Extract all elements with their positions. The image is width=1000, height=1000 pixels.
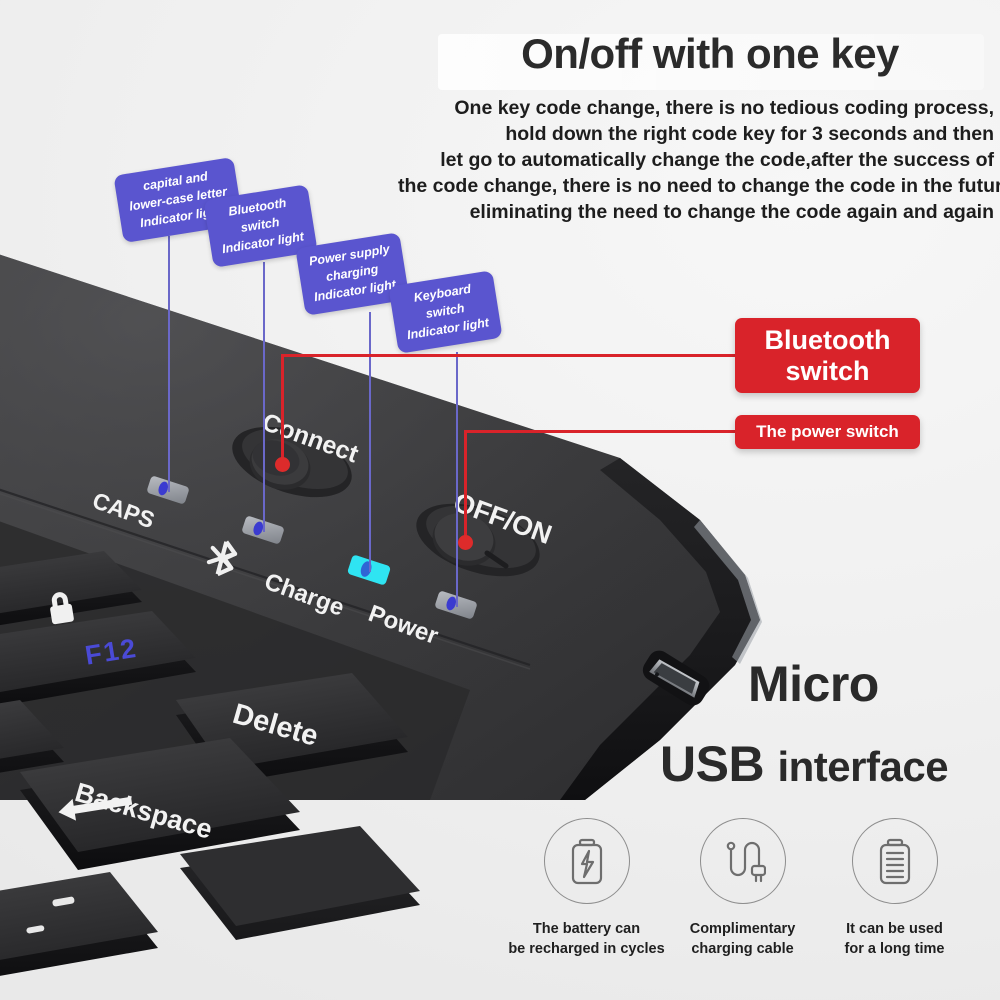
micro-usb-line1: Micro [748,655,879,713]
page-description: One key code change, there is no tedious… [398,96,994,226]
red-leader-bluetooth-horizontal [281,354,736,357]
description-line: hold down the right code key for 3 secon… [398,122,994,148]
micro-usb-line2: USB interface [660,735,948,793]
red-leader-power-horizontal [464,430,736,433]
feature-caption: Complimentary charging cable [656,920,829,959]
feature-caption-line: It can be used [808,920,981,940]
feature-caption-line: Complimentary [656,920,829,940]
battery-full-glyph [874,836,916,886]
red-leader-power-vertical [464,430,467,542]
feature-caption-line: for a long time [808,940,981,960]
charging-cable-glyph [720,836,766,886]
leader-line-bluetooth [263,262,265,532]
leader-line-charging [369,312,371,572]
feature-item-long-life: It can be used for a long time [808,818,981,959]
description-line: One key code change, there is no tedious… [398,96,994,122]
feature-list: The battery can be recharged in cycles C… [480,818,1000,998]
red-callout-line: switch [785,356,869,386]
description-line: the code change, there is no need to cha… [398,174,994,200]
feature-caption-line: charging cable [656,940,829,960]
description-line: let go to automatically change the code,… [398,148,994,174]
red-anchor-dot-connect [275,457,290,472]
battery-full-icon [852,818,938,904]
charging-cable-icon [700,818,786,904]
page-title: On/off with one key [430,32,990,76]
leader-line-caps [168,236,170,492]
red-callout-line: The power switch [756,422,899,441]
red-callout-line: Bluetooth [765,325,891,355]
red-callout-power-switch: The power switch [735,415,920,449]
micro-usb-interface-word: interface [777,743,948,790]
description-line: eliminating the need to change the code … [398,200,994,226]
infographic-canvas: Connect OFF/ON CAPS Charge Power F12 Del… [0,0,1000,1000]
battery-charging-glyph [566,836,608,886]
feature-item-charging-cable: Complimentary charging cable [656,818,829,959]
red-callout-bluetooth-switch: Bluetooth switch [735,318,920,393]
battery-charging-icon [544,818,630,904]
feature-caption: It can be used for a long time [808,920,981,959]
feature-caption-line: The battery can [500,920,673,940]
red-anchor-dot-power [458,535,473,550]
feature-caption: The battery can be recharged in cycles [500,920,673,959]
micro-usb-usb-word: USB [660,736,764,792]
key-bottom-left [0,872,158,990]
feature-caption-line: be recharged in cycles [500,940,673,960]
red-leader-bluetooth-vertical [281,354,284,464]
feature-item-rechargeable: The battery can be recharged in cycles [500,818,673,959]
leader-line-keyboard [456,352,458,607]
